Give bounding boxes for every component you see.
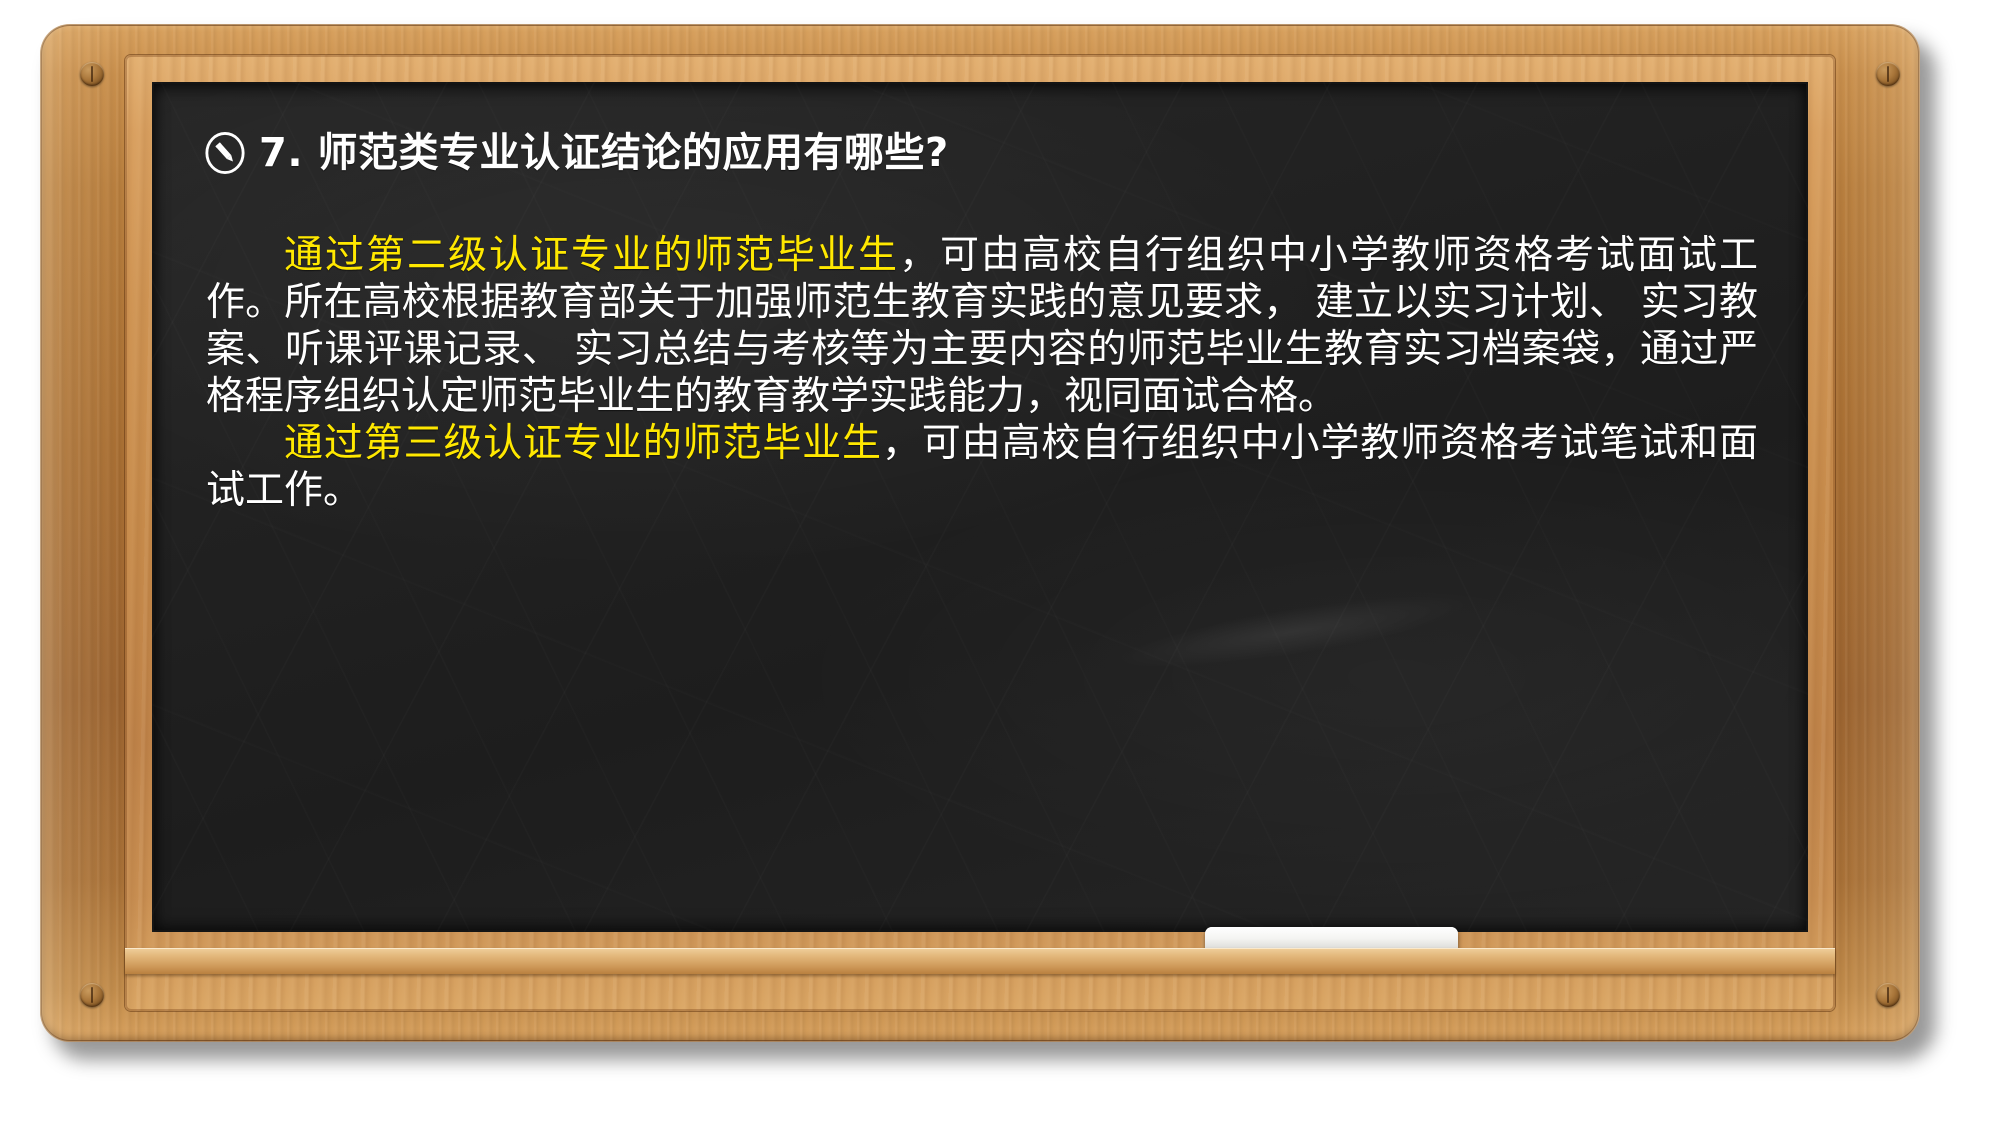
screw-bolt-bottom-left	[80, 983, 104, 1007]
chalkboard-ledge	[125, 948, 1835, 974]
screw-bolt-top-left	[80, 62, 104, 86]
slide-stage: 7. 师范类专业认证结论的应用有哪些? 通过第二级认证专业的师范毕业生，可由高校…	[0, 0, 1990, 1121]
pencil-circle-icon	[204, 132, 246, 174]
chalkboard-content: 7. 师范类专业认证结论的应用有哪些? 通过第二级认证专业的师范毕业生，可由高校…	[152, 82, 1808, 932]
screw-bolt-top-right	[1876, 62, 1900, 86]
paragraph-level-three: 通过第三级认证专业的师范毕业生，可由高校自行组织中小学教师资格考试笔试和面试工作…	[206, 420, 1758, 514]
slide-body: 通过第二级认证专业的师范毕业生，可由高校自行组织中小学教师资格考试面试工作。所在…	[196, 232, 1764, 514]
slide-title-row: 7. 师范类专业认证结论的应用有哪些?	[204, 132, 1764, 174]
page-title: 7. 师范类专业认证结论的应用有哪些?	[259, 132, 949, 174]
highlight-run-level-three: 通过第三级认证专业的师范毕业生	[284, 421, 882, 466]
screw-bolt-bottom-right	[1876, 983, 1900, 1007]
highlight-run-level-two: 通过第二级认证专业的师范毕业生	[284, 233, 899, 278]
paragraph-level-two: 通过第二级认证专业的师范毕业生，可由高校自行组织中小学教师资格考试面试工作。所在…	[206, 232, 1758, 420]
chalkboard-surface: 7. 师范类专业认证结论的应用有哪些? 通过第二级认证专业的师范毕业生，可由高校…	[152, 82, 1808, 932]
